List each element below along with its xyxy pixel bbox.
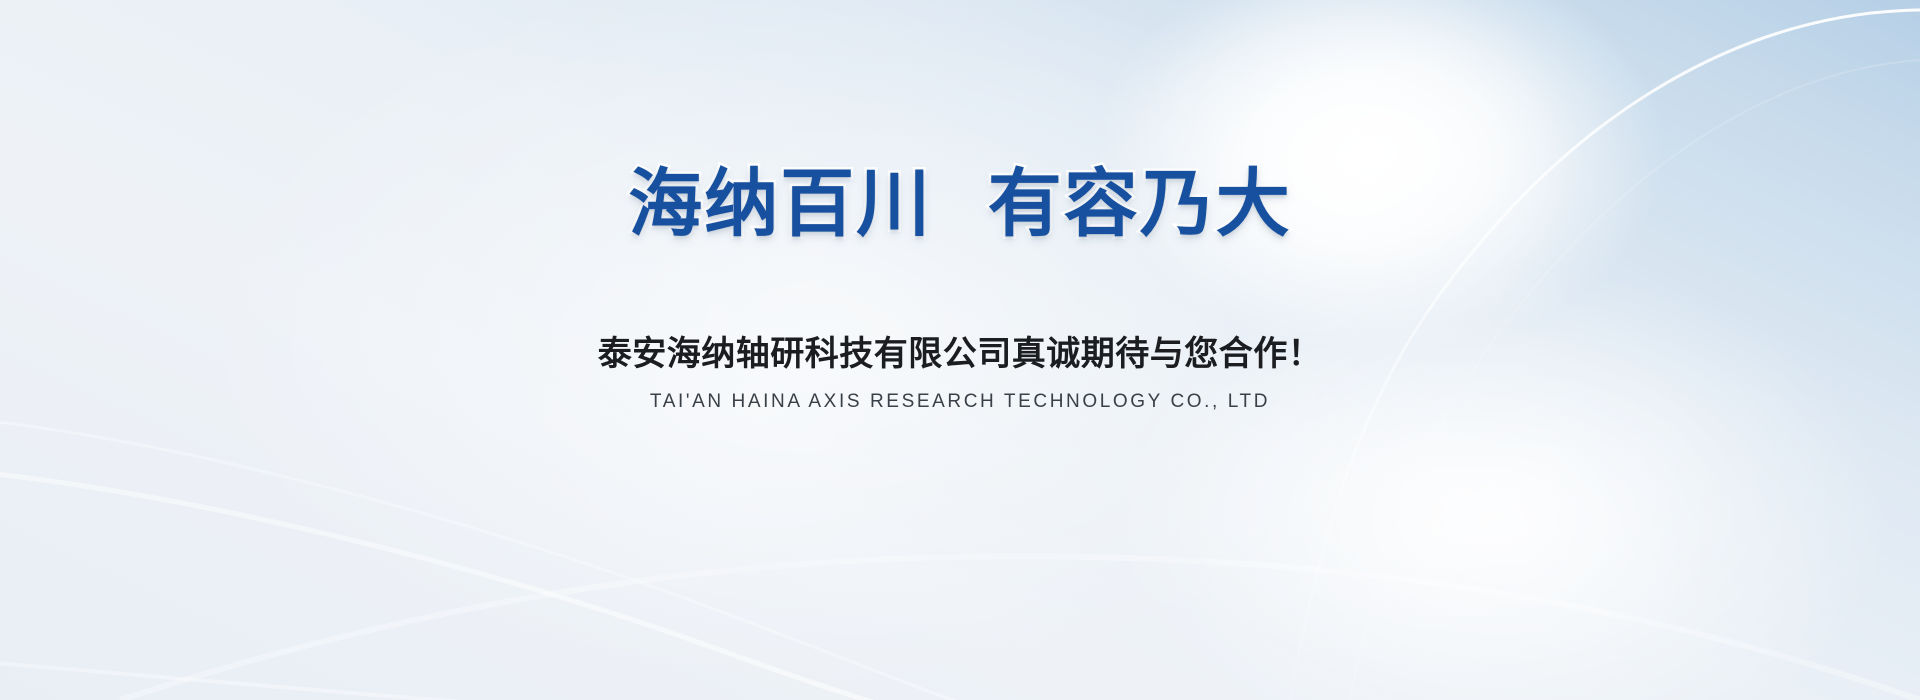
banner-headline: 海纳百川 有容乃大: [628, 166, 1292, 244]
banner-subtitle-english: TAI'AN HAINA AXIS RESEARCH TECHNOLOGY CO…: [650, 391, 1270, 413]
banner-subtitle-chinese: 泰安海纳轴研科技有限公司真诚期待与您合作！: [598, 326, 1323, 375]
hero-banner: 海纳百川 有容乃大 泰安海纳轴研科技有限公司真诚期待与您合作！ TAI'AN H…: [0, 0, 1920, 700]
banner-content: 海纳百川 有容乃大 泰安海纳轴研科技有限公司真诚期待与您合作！ TAI'AN H…: [0, 0, 1920, 700]
